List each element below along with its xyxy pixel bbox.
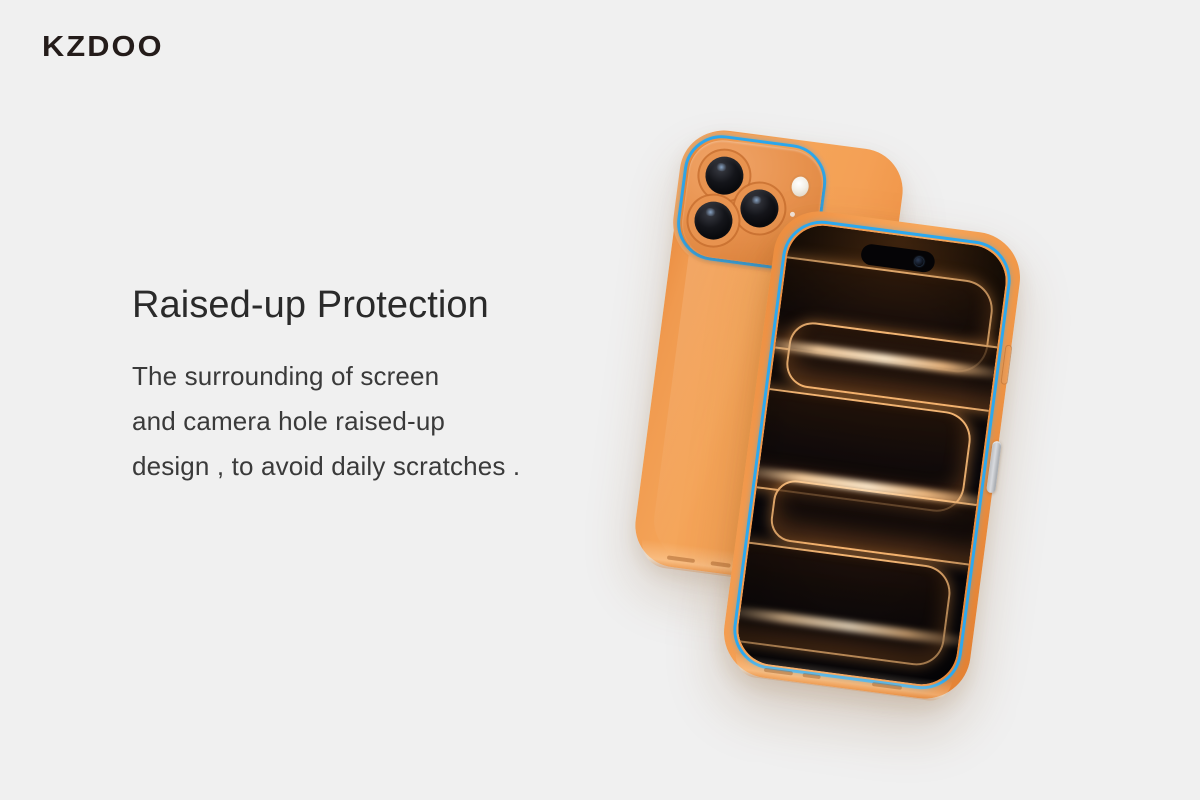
camera-lens-icon [738, 187, 781, 230]
page-title: Raised-up Protection [132, 284, 652, 328]
body-line-2: and camera hole raised-up [132, 399, 652, 444]
product-image [600, 90, 1120, 730]
body-line-1: The surrounding of screen [132, 354, 652, 399]
camera-lens-icon [703, 154, 746, 197]
body-line-3: design , to avoid daily scratches . [132, 444, 652, 489]
camera-lens-icon [692, 199, 735, 242]
brand-logo: KZDOO [42, 33, 164, 62]
camera-flash-icon [790, 176, 809, 198]
copy-block: Raised-up Protection The surrounding of … [132, 284, 652, 489]
marketing-banner: KZDOO Raised-up Protection The surroundi… [0, 0, 1200, 800]
front-camera-icon [914, 256, 924, 266]
